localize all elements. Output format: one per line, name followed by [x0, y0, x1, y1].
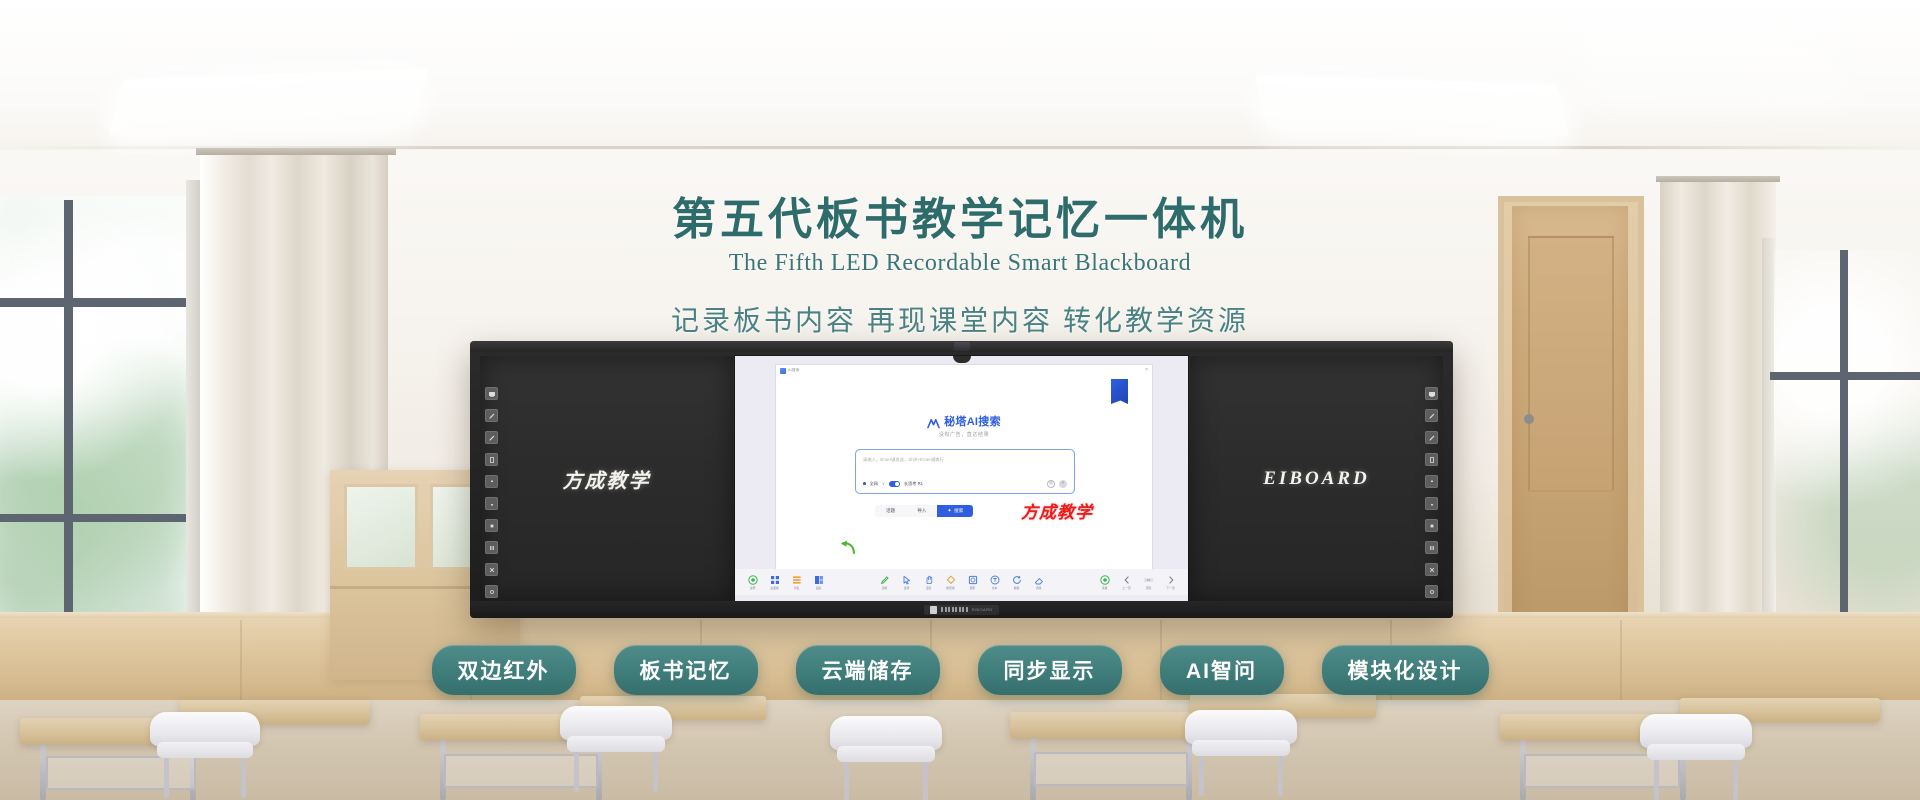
hand-tool[interactable]: 漫游	[921, 575, 936, 590]
pen-icon	[879, 575, 890, 586]
stop-icon[interactable]	[1425, 519, 1438, 532]
banner-title-block: 第五代板书教学记忆一体机 The Fifth LED Recordable Sm…	[0, 196, 1920, 339]
select-tool[interactable]: 选择	[899, 575, 914, 590]
undo-icon	[1011, 575, 1022, 586]
apps-grid-icon	[769, 575, 780, 586]
screen-capture-icon[interactable]	[485, 387, 498, 400]
right-window-mullion-horizontal	[1770, 372, 1920, 380]
camera-icon	[954, 342, 970, 351]
pen-icon[interactable]	[485, 409, 498, 422]
blackboard-top-bezel	[470, 341, 1453, 352]
left-side-toolbar[interactable]	[485, 387, 498, 598]
chair-leg	[653, 752, 658, 792]
text-label: 文本	[992, 587, 998, 590]
close-icon[interactable]	[485, 563, 498, 576]
chair-leg	[923, 762, 928, 800]
student-chair	[1185, 710, 1297, 770]
record-label: 录播	[1102, 587, 1108, 590]
student-chair	[150, 712, 260, 772]
chair-leg	[1733, 760, 1738, 800]
page-indicator-label: 页码	[1146, 587, 1152, 590]
chair-seat	[837, 746, 936, 762]
camera-icon[interactable]: ◎	[1047, 480, 1055, 488]
undo-label: 撤销	[1014, 587, 1020, 590]
eraser-icon[interactable]	[485, 453, 498, 466]
brand-row: 秘塔AI搜索	[776, 413, 1152, 429]
feature-cloud-storage[interactable]: 云端储存	[796, 645, 940, 695]
blackboard-status-plate: EIBOARD	[924, 605, 998, 615]
close-icon[interactable]: ×	[1145, 368, 1148, 373]
highlighter-icon[interactable]	[485, 431, 498, 444]
pen-label: 画笔	[882, 587, 888, 590]
blackboard-right-panel[interactable]: EIBOARD	[1190, 356, 1443, 601]
topic-button[interactable]: 话题	[875, 505, 906, 517]
chair-seat	[567, 736, 666, 752]
gallery-tool[interactable]: 画廊	[811, 575, 826, 590]
select-label: 选择	[904, 587, 910, 590]
hand-label: 漫游	[926, 587, 932, 590]
hand-icon	[923, 575, 934, 586]
decorative-flag-icon	[1111, 379, 1128, 404]
undo-arrow-icon	[838, 537, 860, 557]
text-tool[interactable]: 文本	[987, 575, 1002, 590]
pen-tool[interactable]: 画笔	[877, 575, 892, 590]
page-indicator: 1/1 页码	[1141, 575, 1156, 590]
page-title: 第五代板书教学记忆一体机	[0, 196, 1920, 244]
app-favicon-icon	[780, 368, 786, 374]
left-panel-chalk-text: 方成教学	[480, 464, 733, 493]
student-chair	[560, 706, 672, 766]
brightness-up-icon[interactable]	[1425, 475, 1438, 488]
search-action-row: 话题 导入 ✦ 搜索	[875, 505, 973, 517]
chair-backrest	[1185, 710, 1297, 744]
search-input-box[interactable]: 请输入，Enter键发送，Shift+Enter键换行 全网 ∨ 长思考 R1 …	[855, 449, 1075, 494]
toolbar-center-group: 画笔 选择 漫游 橡皮擦	[877, 575, 1046, 590]
chair-backrest	[830, 716, 942, 750]
chair-backrest	[560, 706, 672, 740]
brightness-down-icon[interactable]	[485, 497, 498, 510]
chair-seat	[1192, 740, 1291, 756]
pen-icon[interactable]	[1425, 409, 1438, 422]
chair-leg	[164, 758, 169, 798]
gallery-label: 画廊	[816, 587, 822, 590]
door-knob[interactable]	[1524, 414, 1534, 424]
chair-seat	[157, 742, 254, 758]
svg-text:1/1: 1/1	[1147, 578, 1151, 582]
annotate-icon	[747, 575, 758, 586]
eraser-label: 橡皮擦	[946, 587, 954, 590]
deep-think-label: 长思考 R1	[904, 481, 923, 487]
chevron-left-icon	[1121, 575, 1132, 586]
list-icon	[791, 575, 802, 586]
shape-label: 图形	[970, 587, 976, 590]
pause-icon[interactable]	[1425, 541, 1438, 554]
blackboard-status-label: EIBOARD	[972, 607, 993, 612]
brand-tagline: 没有广告，直达结果	[776, 431, 1152, 438]
right-panel-chalk-text: EIBOARD	[1190, 468, 1443, 490]
sparkle-icon: ✦	[947, 509, 951, 514]
smart-blackboard[interactable]: 方成教学 EIBOARD	[470, 341, 1453, 618]
banner-stage: 第五代板书教学记忆一体机 The Fifth LED Recordable Sm…	[0, 0, 1920, 800]
prev-page-button[interactable]: 上一页	[1119, 575, 1134, 590]
close-icon[interactable]	[1425, 563, 1438, 576]
shape-tool[interactable]: 图形	[965, 575, 980, 590]
blackboard-bottom-bezel: EIBOARD	[470, 601, 1453, 618]
shape-icon	[967, 575, 978, 586]
ceiling-light-panel-2	[1255, 75, 1570, 136]
highlighter-icon[interactable]	[1425, 431, 1438, 444]
mode-dot-icon	[863, 482, 866, 485]
eraser-tool[interactable]: 橡皮擦	[943, 575, 958, 590]
stop-icon[interactable]	[485, 519, 498, 532]
clear-tool[interactable]: 清除	[1031, 575, 1046, 590]
clear-icon	[1033, 575, 1044, 586]
annotate-tool[interactable]: 注释	[745, 575, 760, 590]
left-window-mullion-horizontal-bottom	[0, 514, 194, 522]
student-chair	[830, 716, 942, 776]
next-page-label: 下一页	[1166, 587, 1174, 590]
gallery-icon	[813, 575, 824, 586]
cabinet-glass-door-left	[344, 484, 418, 570]
toolbar-right-group: 录播 上一页 1/1 页码 下一页	[1097, 575, 1178, 590]
screen-notch	[953, 356, 971, 363]
feature-board-memory[interactable]: 板书记忆	[614, 645, 758, 695]
app-window-title: AI搜索	[788, 368, 799, 373]
device-icon	[930, 606, 937, 614]
chevron-down-icon[interactable]: ∨	[882, 481, 885, 486]
ai-search-app-window[interactable]: AI搜索 × 秘塔AI搜索 没有广告，直达结果 请输入，Enter键发送，Shi	[775, 364, 1153, 570]
chair-leg	[1199, 756, 1204, 796]
apps-label: 桌面端	[770, 587, 778, 590]
screen-capture-icon[interactable]	[1425, 387, 1438, 400]
chair-leg	[1278, 756, 1283, 796]
chair-seat	[1647, 744, 1746, 760]
whiteboard-toolbar[interactable]: 注释 桌面端 列表 画廊	[735, 569, 1188, 595]
brand-name: 秘塔AI搜索	[944, 413, 1001, 429]
deep-think-toggle[interactable]	[889, 481, 900, 487]
desk-basket	[1034, 752, 1188, 786]
brightness-down-icon[interactable]	[1425, 497, 1438, 510]
feature-ai-ask[interactable]: AI智问	[1160, 645, 1284, 695]
blackboard-left-panel[interactable]: 方成教学	[480, 356, 733, 601]
student-desk	[1010, 712, 1206, 738]
list-label: 列表	[794, 587, 800, 590]
search-placeholder: 请输入，Enter键发送，Shift+Enter键换行	[863, 457, 944, 463]
next-page-button[interactable]: 下一页	[1163, 575, 1178, 590]
feature-modular-design[interactable]: 模块化设计	[1322, 645, 1489, 695]
left-curtain-rail	[196, 148, 396, 155]
clear-label: 清除	[1036, 587, 1042, 590]
chair-leg	[844, 762, 849, 800]
right-side-toolbar[interactable]	[1425, 387, 1438, 598]
undo-tool[interactable]: 撤销	[1009, 575, 1024, 590]
eraser-icon[interactable]	[1425, 453, 1438, 466]
chair-leg	[241, 758, 246, 798]
page-subtitle: The Fifth LED Recordable Smart Blackboar…	[0, 250, 1920, 277]
page-tagline: 记录板书内容 再现课堂内容 转化教学资源	[0, 299, 1920, 339]
annotate-label: 注释	[750, 587, 756, 590]
prev-page-label: 上一页	[1122, 587, 1130, 590]
page-count-icon: 1/1	[1143, 575, 1154, 586]
chevron-right-icon	[1165, 575, 1176, 586]
search-button-label: 搜索	[954, 508, 963, 514]
brightness-up-icon[interactable]	[485, 475, 498, 488]
app-title-bar: AI搜索 ×	[776, 365, 1152, 376]
search-scope-label[interactable]: 全网	[870, 481, 878, 487]
eraser-icon	[945, 575, 956, 586]
apps-tool[interactable]: 桌面端	[767, 575, 782, 590]
feature-badge-row: 双边红外 板书记忆 云端储存 同步显示 AI智问 模块化设计	[0, 645, 1920, 695]
attachment-icon[interactable]: +	[1059, 480, 1067, 488]
feature-dual-infrared[interactable]: 双边红外	[432, 645, 576, 695]
metaso-logo-icon	[927, 416, 940, 427]
list-tool[interactable]: 列表	[789, 575, 804, 590]
settings-icon[interactable]	[1425, 585, 1438, 598]
record-tool[interactable]: 录播	[1097, 575, 1112, 590]
search-options-bar: 全网 ∨ 长思考 R1 ◎ +	[856, 478, 1074, 489]
record-icon	[1099, 575, 1110, 586]
select-icon	[901, 575, 912, 586]
right-curtain-rail	[1656, 176, 1780, 182]
settings-icon[interactable]	[485, 585, 498, 598]
pause-icon[interactable]	[485, 541, 498, 554]
status-dots-icon	[941, 607, 968, 612]
app-title-left: AI搜索	[780, 368, 799, 374]
chair-leg	[1654, 760, 1659, 800]
student-chair	[1640, 714, 1752, 774]
chair-leg	[574, 752, 579, 792]
text-icon	[989, 575, 1000, 586]
chair-backrest	[1640, 714, 1752, 748]
red-ink-annotation-left: 方成教学	[1021, 498, 1093, 523]
chair-backrest	[150, 712, 260, 746]
toolbar-left-group: 注释 桌面端 列表 画廊	[745, 575, 826, 590]
center-display-screen[interactable]: AI搜索 × 秘塔AI搜索 没有广告，直达结果 请输入，Enter键发送，Shi	[735, 356, 1188, 601]
search-button[interactable]: ✦ 搜索	[937, 505, 973, 517]
feature-sync-display[interactable]: 同步显示	[978, 645, 1122, 695]
import-button[interactable]: 导入	[906, 505, 937, 517]
